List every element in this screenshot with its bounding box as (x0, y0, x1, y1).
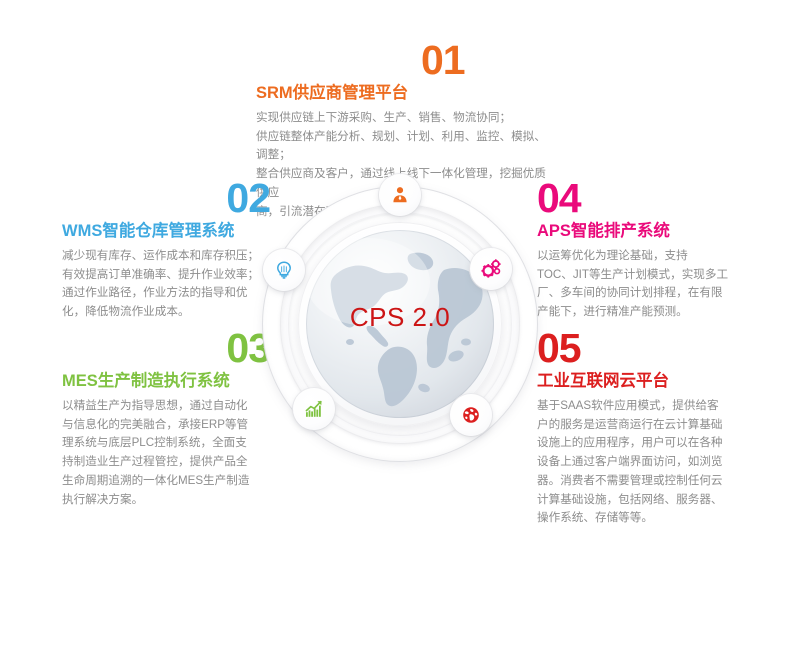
section-02-body: 减少现有库存、运作成本和库存积压； 有效提高订单准确率、提升作业效率； 通过作业… (62, 247, 270, 322)
section-05-line-3: 设施上的应用程序，用户可以在各种 (537, 434, 743, 453)
section-03-line-5: 生命周期追溯的一体化MES生产制造 (62, 472, 270, 491)
user-icon-bubble[interactable] (379, 174, 421, 216)
bar-chart-icon-bubble[interactable] (293, 388, 335, 430)
section-04-number: 04 (537, 178, 743, 219)
infographic-canvas: 01 SRM供应商管理平台 实现供应链上下游采购、生产、销售、物流协同； 供应链… (0, 0, 800, 654)
section-05-line-5: 器。消费者不需要管理或控制任何云 (537, 472, 743, 491)
section-04-line-3: 厂、多车间的协同计划排程，在有限 (537, 284, 743, 303)
bar-chart-icon (304, 399, 324, 419)
gears-icon (480, 258, 502, 280)
section-01-line-2: 供应链整体产能分析、规划、计划、利用、监控、模拟、调整； (256, 128, 554, 166)
section-03-body: 以精益生产为指导思想，通过自动化 与信息化的完美融合，承接ERP等管 理系统与底… (62, 397, 270, 510)
section-03-line-4: 持制造业生产过程管控，提供产品全 (62, 453, 270, 472)
section-03-mes: 03 MES生产制造执行系统 以精益生产为指导思想，通过自动化 与信息化的完美融… (62, 328, 270, 509)
section-05-body: 基于SAAS软件应用模式，提供给客 户的服务是运营商运行在云计算基础 设施上的应… (537, 397, 743, 528)
section-03-line-2: 与信息化的完美融合，承接ERP等管 (62, 416, 270, 435)
section-04-title: APS智能排产系统 (537, 222, 743, 242)
section-05-number: 05 (537, 328, 743, 369)
gears-icon-bubble[interactable] (470, 248, 512, 290)
globe-icon-bubble[interactable] (450, 394, 492, 436)
globe-icon (461, 405, 481, 425)
section-05-title: 工业互联网云平台 (537, 372, 743, 392)
section-03-number: 03 (62, 328, 270, 369)
section-02-line-2: 有效提高订单准确率、提升作业效率； (62, 266, 270, 285)
lightbulb-icon-bubble[interactable] (263, 249, 305, 291)
section-01-number: 01 (421, 40, 554, 81)
section-05-cloud: 05 工业互联网云平台 基于SAAS软件应用模式，提供给客 户的服务是运营商运行… (537, 328, 743, 528)
section-01-title: SRM供应商管理平台 (256, 84, 554, 104)
section-04-line-2: TOC、JIT等生产计划模式，实现多工 (537, 266, 743, 285)
section-02-number: 02 (62, 178, 270, 219)
section-05-line-7: 操作系统、存储等等。 (537, 509, 743, 528)
section-04-line-1: 以运筹优化为理论基础，支持 (537, 247, 743, 266)
section-01-line-1: 实现供应链上下游采购、生产、销售、物流协同； (256, 109, 554, 128)
section-02-title: WMS智能仓库管理系统 (62, 222, 270, 242)
lightbulb-icon (274, 260, 294, 280)
section-04-aps: 04 APS智能排产系统 以运筹优化为理论基础，支持 TOC、JIT等生产计划模… (537, 178, 743, 322)
user-icon (390, 185, 410, 205)
section-05-line-2: 户的服务是运营商运行在云计算基础 (537, 416, 743, 435)
center-label: CPS 2.0 (258, 302, 542, 333)
section-05-line-6: 计算基础设施，包括网络、服务器、 (537, 491, 743, 510)
section-02-wms: 02 WMS智能仓库管理系统 减少现有库存、运作成本和库存积压； 有效提高订单准… (62, 178, 270, 322)
section-02-line-3: 通过作业路径，作业方法的指导和优 (62, 284, 270, 303)
section-03-title: MES生产制造执行系统 (62, 372, 270, 392)
central-globe-graphic: CPS 2.0 (258, 182, 542, 466)
section-03-line-6: 执行解决方案。 (62, 491, 270, 510)
section-04-body: 以运筹优化为理论基础，支持 TOC、JIT等生产计划模式，实现多工 厂、多车间的… (537, 247, 743, 322)
section-03-line-3: 理系统与底层PLC控制系统，全面支 (62, 434, 270, 453)
section-02-line-4: 化，降低物流作业成本。 (62, 303, 270, 322)
section-02-line-1: 减少现有库存、运作成本和库存积压； (62, 247, 270, 266)
section-05-line-4: 设备上通过客户端界面访问，如浏览 (537, 453, 743, 472)
section-04-line-4: 产能下，进行精准产能预测。 (537, 303, 743, 322)
section-05-line-1: 基于SAAS软件应用模式，提供给客 (537, 397, 743, 416)
section-03-line-1: 以精益生产为指导思想，通过自动化 (62, 397, 270, 416)
